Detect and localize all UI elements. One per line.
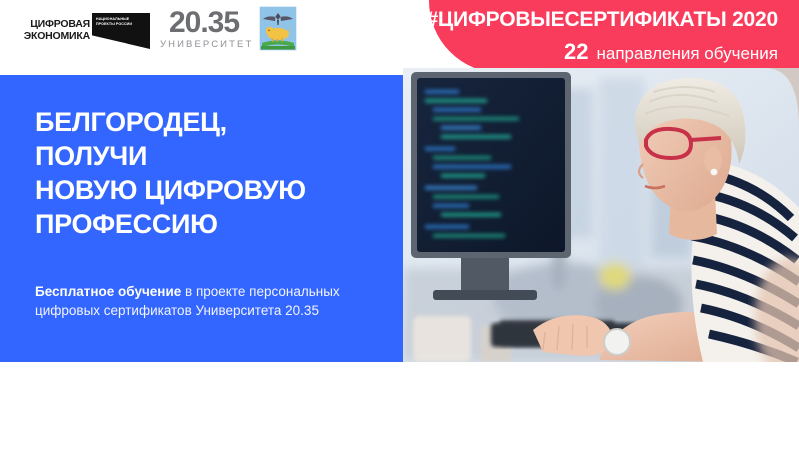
hero-photo [403, 68, 799, 362]
hero-photo-illustration [403, 68, 799, 362]
bottom-bar: Подать заявку 15.10.2020- 30.10.2020 Про… [0, 362, 799, 472]
subheadline-strong: Бесплатное обучение [35, 284, 181, 299]
university-number: 20.35 [158, 8, 250, 38]
digital-economy-line1: ЦИФРОВАЯ [18, 18, 90, 30]
headline-line-3: НОВУЮ ЦИФРОВУЮ [35, 173, 385, 207]
subheadline: Бесплатное обучение в проекте персональн… [35, 282, 385, 320]
page-title: БЕЛГОРОДЕЦ, ПОЛУЧИ НОВУЮ ЦИФРОВУЮ ПРОФЕС… [35, 105, 385, 241]
headline-line-1: БЕЛГОРОДЕЦ, [35, 105, 385, 139]
national-projects-flag-icon: НАЦИОНАЛЬНЫЕ ПРОЕКТЫ РОССИИ [92, 13, 150, 49]
logo-strip: ЦИФРОВАЯ ЭКОНОМИКА НАЦИОНАЛЬНЫЕ ПРОЕКТЫ … [0, 0, 430, 75]
headline-line-2: ПОЛУЧИ [35, 139, 385, 173]
pink-banner: #ЦИФРОВЫЕСЕРТИФИКАТЫ 2020 22 направления… [429, 0, 799, 73]
national-projects-label: НАЦИОНАЛЬНЫЕ ПРОЕКТЫ РОССИИ [96, 17, 140, 26]
university-2035-logo: 20.35 УНИВЕРСИТЕТ [158, 8, 250, 52]
promo-banner: ЦИФРОВАЯ ЭКОНОМИКА НАЦИОНАЛЬНЫЕ ПРОЕКТЫ … [0, 0, 799, 472]
belgorod-coat-of-arms-icon [258, 5, 298, 57]
headline-panel: БЕЛГОРОДЕЦ, ПОЛУЧИ НОВУЮ ЦИФРОВУЮ ПРОФЕС… [0, 75, 403, 362]
digital-economy-line2: ЭКОНОМИКА [18, 30, 90, 42]
directions-count-row: 22 направления обучения [564, 39, 778, 65]
directions-label: направления обучения [596, 44, 778, 64]
directions-count: 22 [564, 39, 588, 65]
university-word: УНИВЕРСИТЕТ [158, 38, 250, 52]
campaign-hashtag: #ЦИФРОВЫЕСЕРТИФИКАТЫ 2020 [426, 8, 778, 32]
headline-line-4: ПРОФЕССИЮ [35, 207, 385, 241]
digital-economy-logo: ЦИФРОВАЯ ЭКОНОМИКА НАЦИОНАЛЬНЫЕ ПРОЕКТЫ … [18, 11, 150, 51]
digital-economy-label: ЦИФРОВАЯ ЭКОНОМИКА [18, 18, 90, 42]
